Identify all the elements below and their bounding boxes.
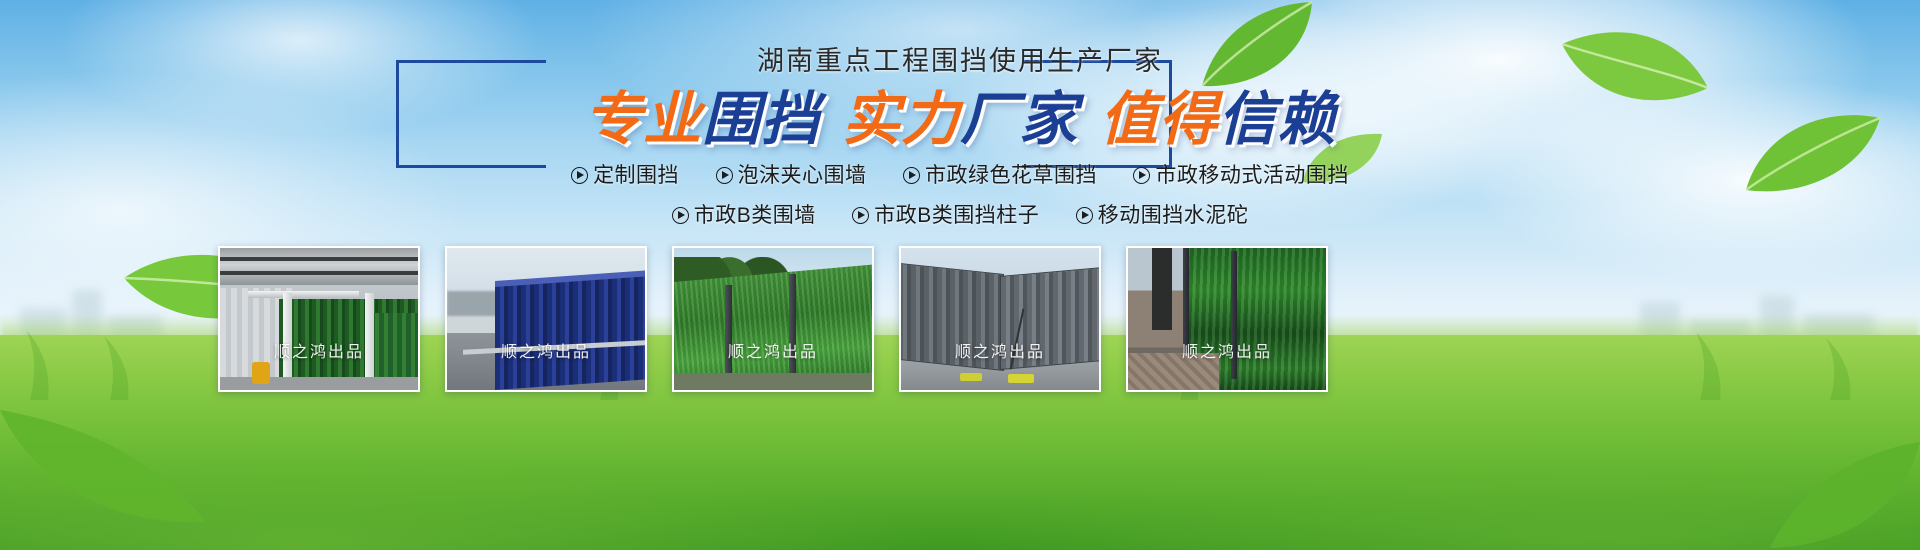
headline-part-4: 厂家 (960, 84, 1078, 156)
play-circle-icon (716, 167, 733, 184)
thumbnail-gallery: 顺之鸿出品 顺之鸿出品 (0, 246, 1920, 394)
thumbnail-2-photo (447, 248, 645, 390)
headline-part-6: 信赖 (1218, 84, 1336, 156)
bullet-row-2: 市政B类围墙 市政B类围挡柱子 移动围挡水泥砣 (0, 200, 1920, 234)
product-bullet-list: 定制围挡 泡沫夹心围墙 市政绿色花草围挡 市政移动式活动围挡 市政B类围墙 市政… (0, 160, 1920, 234)
thumbnail-2[interactable]: 顺之鸿出品 (445, 246, 647, 392)
thumbnail-5[interactable]: 顺之鸿出品 (1126, 246, 1328, 392)
bullet-item-paomo-jiaxin-weiqiang[interactable]: 泡沫夹心围墙 (716, 160, 867, 192)
bullet-label: 定制围挡 (593, 164, 679, 187)
thumbnail-3-photo (674, 248, 872, 390)
thumbnail-1[interactable]: 顺之鸿出品 (218, 246, 420, 392)
bullet-item-shizheng-b-weiqiang[interactable]: 市政B类围墙 (672, 200, 816, 232)
thumbnail-4[interactable]: 顺之鸿出品 (899, 246, 1101, 392)
leaf-decoration-bottom-right (1770, 436, 1920, 550)
bullet-label: 市政移动式活动围挡 (1155, 164, 1349, 187)
play-circle-icon (672, 207, 689, 224)
headline-part-5: 值得 (1100, 84, 1218, 156)
bullet-label: 市政B类围墙 (694, 204, 816, 227)
play-circle-icon (852, 207, 869, 224)
bullet-label: 市政B类围挡柱子 (874, 204, 1039, 227)
leaf-decoration-bottom-left (0, 400, 210, 530)
bullet-label: 移动围挡水泥砣 (1098, 204, 1249, 227)
thumbnail-5-photo (1128, 248, 1326, 390)
play-circle-icon (571, 167, 588, 184)
headline-block: 湖南重点工程围挡使用生产厂家 专业围挡实力厂家值得信赖 (0, 44, 1920, 156)
banner-headline: 专业围挡实力厂家值得信赖 (0, 84, 1920, 156)
headline-part-1: 专业 (584, 84, 702, 156)
headline-part-3: 实力 (842, 84, 960, 156)
bullet-label: 泡沫夹心围墙 (738, 164, 867, 187)
thumbnail-4-photo (901, 248, 1099, 390)
bullet-row-1: 定制围挡 泡沫夹心围墙 市政绿色花草围挡 市政移动式活动围挡 (0, 160, 1920, 194)
thumbnail-1-photo (220, 248, 418, 390)
play-circle-icon (903, 167, 920, 184)
thumbnail-3[interactable]: 顺之鸿出品 (672, 246, 874, 392)
bullet-item-shizheng-lvse-huacao[interactable]: 市政绿色花草围挡 (903, 160, 1097, 192)
play-circle-icon (1076, 207, 1093, 224)
bullet-item-shizheng-yidongshi[interactable]: 市政移动式活动围挡 (1133, 160, 1349, 192)
promo-banner: 湖南重点工程围挡使用生产厂家 专业围挡实力厂家值得信赖 定制围挡 泡沫夹心围墙 … (0, 0, 1920, 550)
bullet-label: 市政绿色花草围挡 (925, 164, 1097, 187)
bullet-item-dingzhi-weidang[interactable]: 定制围挡 (571, 160, 679, 192)
headline-part-2: 围挡 (702, 84, 820, 156)
banner-subtitle: 湖南重点工程围挡使用生产厂家 (0, 44, 1920, 78)
bullet-item-yidong-shuini-tuo[interactable]: 移动围挡水泥砣 (1076, 200, 1249, 232)
bullet-item-shizheng-b-zhuzi[interactable]: 市政B类围挡柱子 (852, 200, 1039, 232)
play-circle-icon (1133, 167, 1150, 184)
